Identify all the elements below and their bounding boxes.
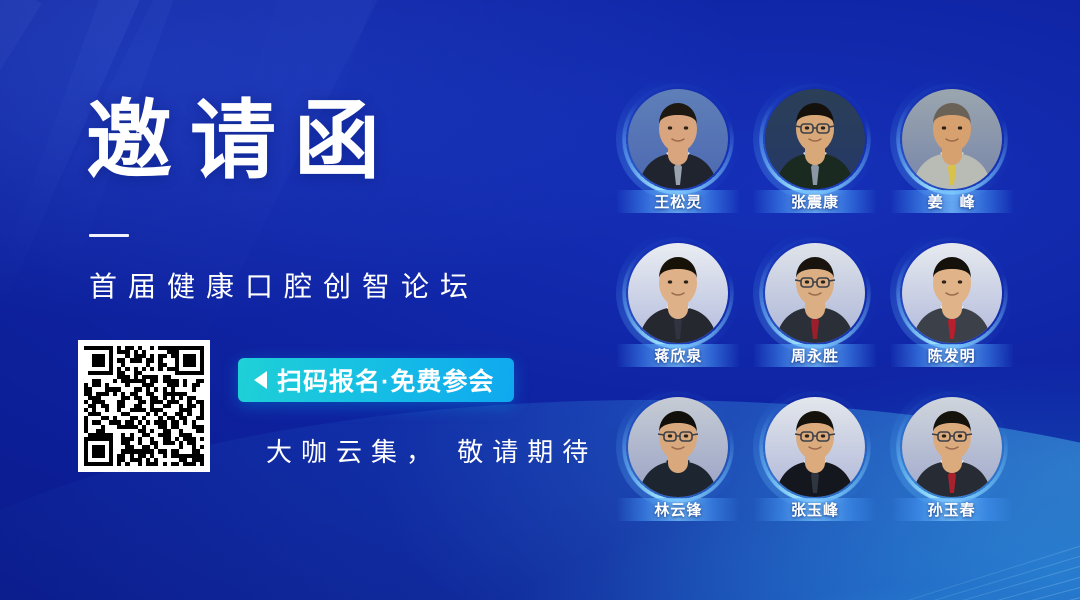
- speaker-name: 陈发明: [928, 345, 976, 366]
- speaker-name-bar: 陈发明: [891, 344, 1013, 367]
- invitation-poster: 邀请函 首届健康口腔创智论坛 扫码报名·免费参会 大咖云集， 敬请期待 王松灵张…: [0, 0, 1080, 600]
- speaker-card[interactable]: 张震康: [757, 83, 873, 213]
- speaker-card[interactable]: 周永胜: [757, 237, 873, 367]
- speaker-name: 姜 峰: [928, 191, 976, 212]
- speaker-name-bar: 姜 峰: [891, 190, 1013, 213]
- speaker-name-bar: 张震康: [754, 190, 876, 213]
- headline-block: 邀请函 首届健康口腔创智论坛: [86, 96, 606, 305]
- speaker-card[interactable]: 林云锋: [620, 391, 736, 521]
- qr-code-modules: [84, 346, 204, 466]
- speaker-name-bar: 张玉峰: [754, 498, 876, 521]
- speaker-name: 周永胜: [791, 345, 839, 366]
- registration-block: 扫码报名·免费参会 大咖云集， 敬请期待: [78, 340, 597, 472]
- title-divider: [89, 234, 129, 237]
- avatar-ring-icon: [622, 237, 734, 349]
- speaker-name-bar: 周永胜: [754, 344, 876, 367]
- speaker-grid: 王松灵张震康姜 峰蒋欣泉周永胜陈发明林云锋张玉峰孙玉春: [619, 83, 1011, 521]
- event-subtitle: 首届健康口腔创智论坛: [89, 265, 606, 305]
- avatar-ring-icon: [622, 391, 734, 503]
- speaker-card[interactable]: 孙玉春: [894, 391, 1010, 521]
- scan-register-button[interactable]: 扫码报名·免费参会: [238, 358, 514, 402]
- speaker-card[interactable]: 陈发明: [894, 237, 1010, 367]
- speaker-name-bar: 王松灵: [617, 190, 739, 213]
- speaker-name: 王松灵: [654, 191, 702, 212]
- avatar-ring-icon: [622, 83, 734, 195]
- speaker-name: 孙玉春: [928, 499, 976, 520]
- speaker-name-bar: 蒋欣泉: [617, 344, 739, 367]
- avatar-ring-icon: [896, 237, 1008, 349]
- triangle-left-icon: [254, 371, 267, 389]
- avatar-ring-icon: [896, 83, 1008, 195]
- qr-code[interactable]: [78, 340, 210, 472]
- speaker-name: 张玉峰: [791, 499, 839, 520]
- avatar-ring-icon: [759, 83, 871, 195]
- speaker-name: 张震康: [791, 191, 839, 212]
- speaker-name: 蒋欣泉: [654, 345, 702, 366]
- speaker-name: 林云锋: [654, 499, 702, 520]
- cta-column: 扫码报名·免费参会 大咖云集， 敬请期待: [238, 340, 597, 469]
- page-title: 邀请函: [86, 96, 606, 186]
- avatar-ring-icon: [896, 391, 1008, 503]
- speaker-card[interactable]: 蒋欣泉: [620, 237, 736, 367]
- avatar-ring-icon: [759, 391, 871, 503]
- scan-register-label: 扫码报名·免费参会: [277, 362, 494, 398]
- speaker-card[interactable]: 张玉峰: [757, 391, 873, 521]
- speaker-name-bar: 孙玉春: [891, 498, 1013, 521]
- speaker-card[interactable]: 姜 峰: [894, 83, 1010, 213]
- speaker-card[interactable]: 王松灵: [620, 83, 736, 213]
- speaker-name-bar: 林云锋: [617, 498, 739, 521]
- tagline: 大咖云集， 敬请期待: [266, 432, 597, 469]
- avatar-ring-icon: [759, 237, 871, 349]
